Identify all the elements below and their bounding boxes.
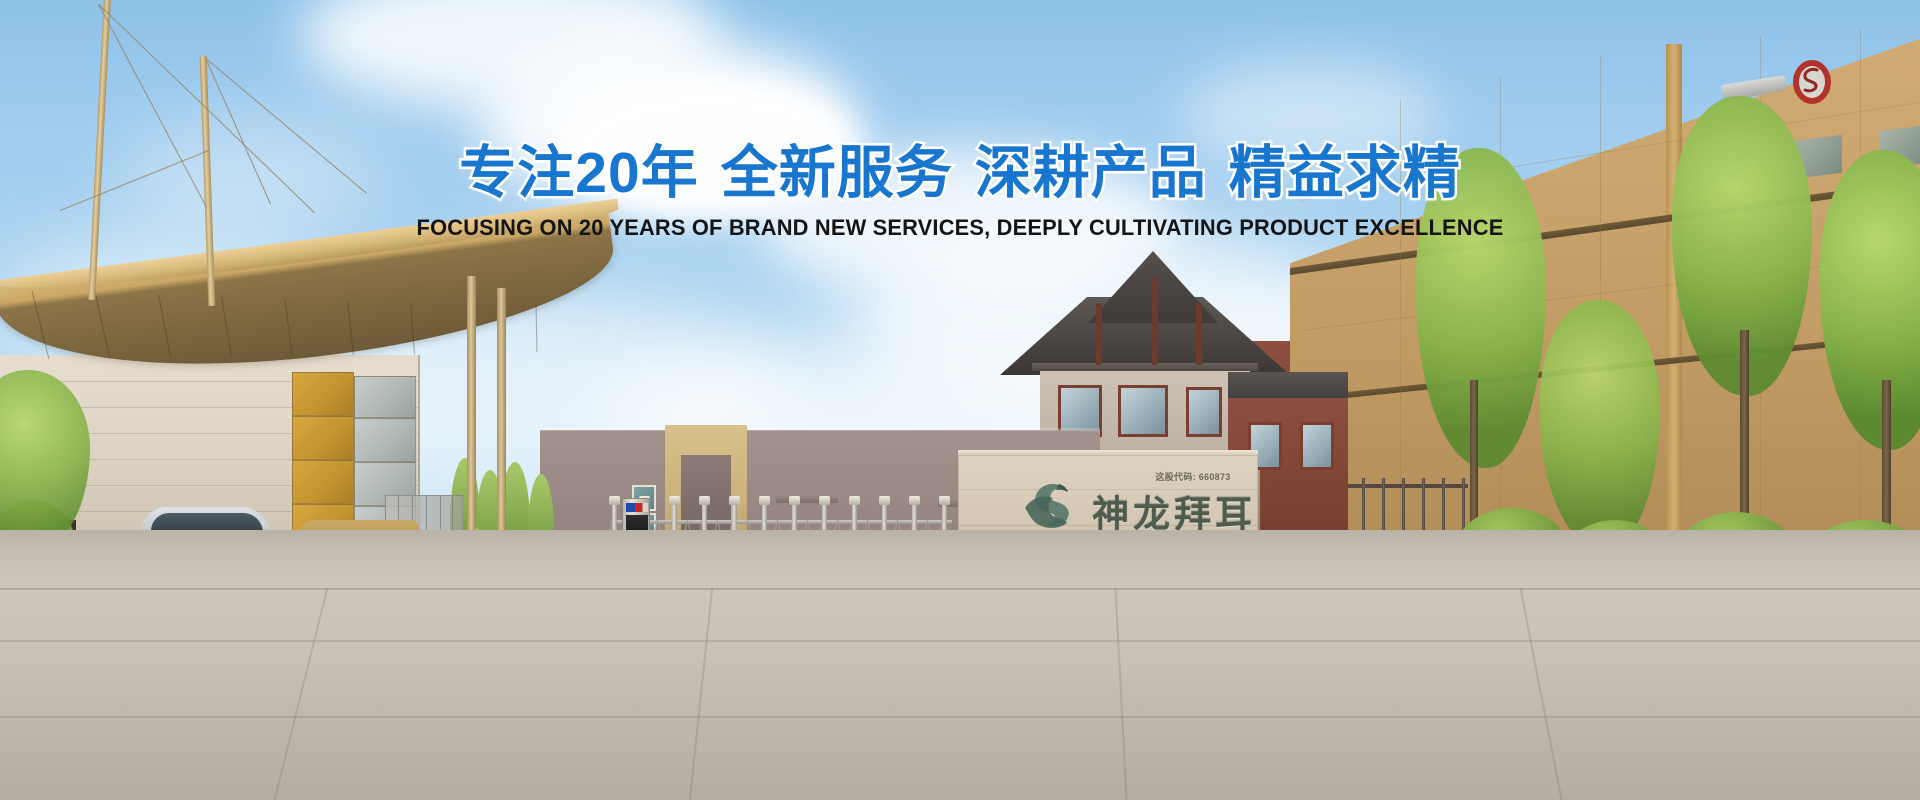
headline-part-4: 精益求精 (1229, 141, 1461, 205)
stock-code-text: 这股代码: 660873 (1113, 470, 1273, 483)
headline-part-1: 专注20年 (459, 141, 698, 205)
gate-post-cap (609, 496, 620, 505)
villa-timber-trim (1152, 279, 1158, 365)
villa-window (1300, 422, 1334, 470)
villa-timber-trim (1096, 303, 1102, 365)
canopy-rib (536, 306, 538, 352)
gate-post-cap (909, 496, 920, 505)
page-subtitle: FOCUSING ON 20 YEARS OF BRAND NEW SERVIC… (29, 215, 1891, 241)
gate-post-cap (669, 496, 680, 505)
ground-seam (0, 588, 1920, 590)
headline-part-2: 全新服务 (721, 141, 953, 205)
red-s-badge-icon (1790, 58, 1834, 106)
gate-post-cap (789, 496, 800, 505)
pavement-joint (0, 640, 1920, 642)
page-title: 专注20年全新服务深耕产品精益求精 (0, 145, 1920, 202)
gate-post-cap (819, 496, 830, 505)
paved-ground (0, 530, 1920, 800)
canopy-column (467, 276, 476, 566)
villa-window (1186, 387, 1222, 437)
gate-post-cap (759, 496, 770, 505)
gate-post-cap (729, 496, 740, 505)
villa-window (1118, 385, 1168, 437)
pavement-joint (0, 716, 1920, 718)
gate-indicator-lights (626, 503, 648, 512)
villa-eave (1032, 363, 1258, 371)
headline-part-3: 深耕产品 (975, 141, 1207, 205)
gate-post-cap (939, 496, 950, 505)
gate-post-cap (879, 496, 890, 505)
gate-post-cap (699, 496, 710, 505)
factory-roofline (540, 428, 1100, 431)
canopy-column (497, 288, 506, 566)
building-corner-column (1666, 44, 1682, 584)
gate-post-cap (849, 496, 860, 505)
banner-stage: 这股代码: 660873 神龙拜耳 (0, 0, 1920, 800)
villa-timber-trim (1196, 303, 1202, 365)
